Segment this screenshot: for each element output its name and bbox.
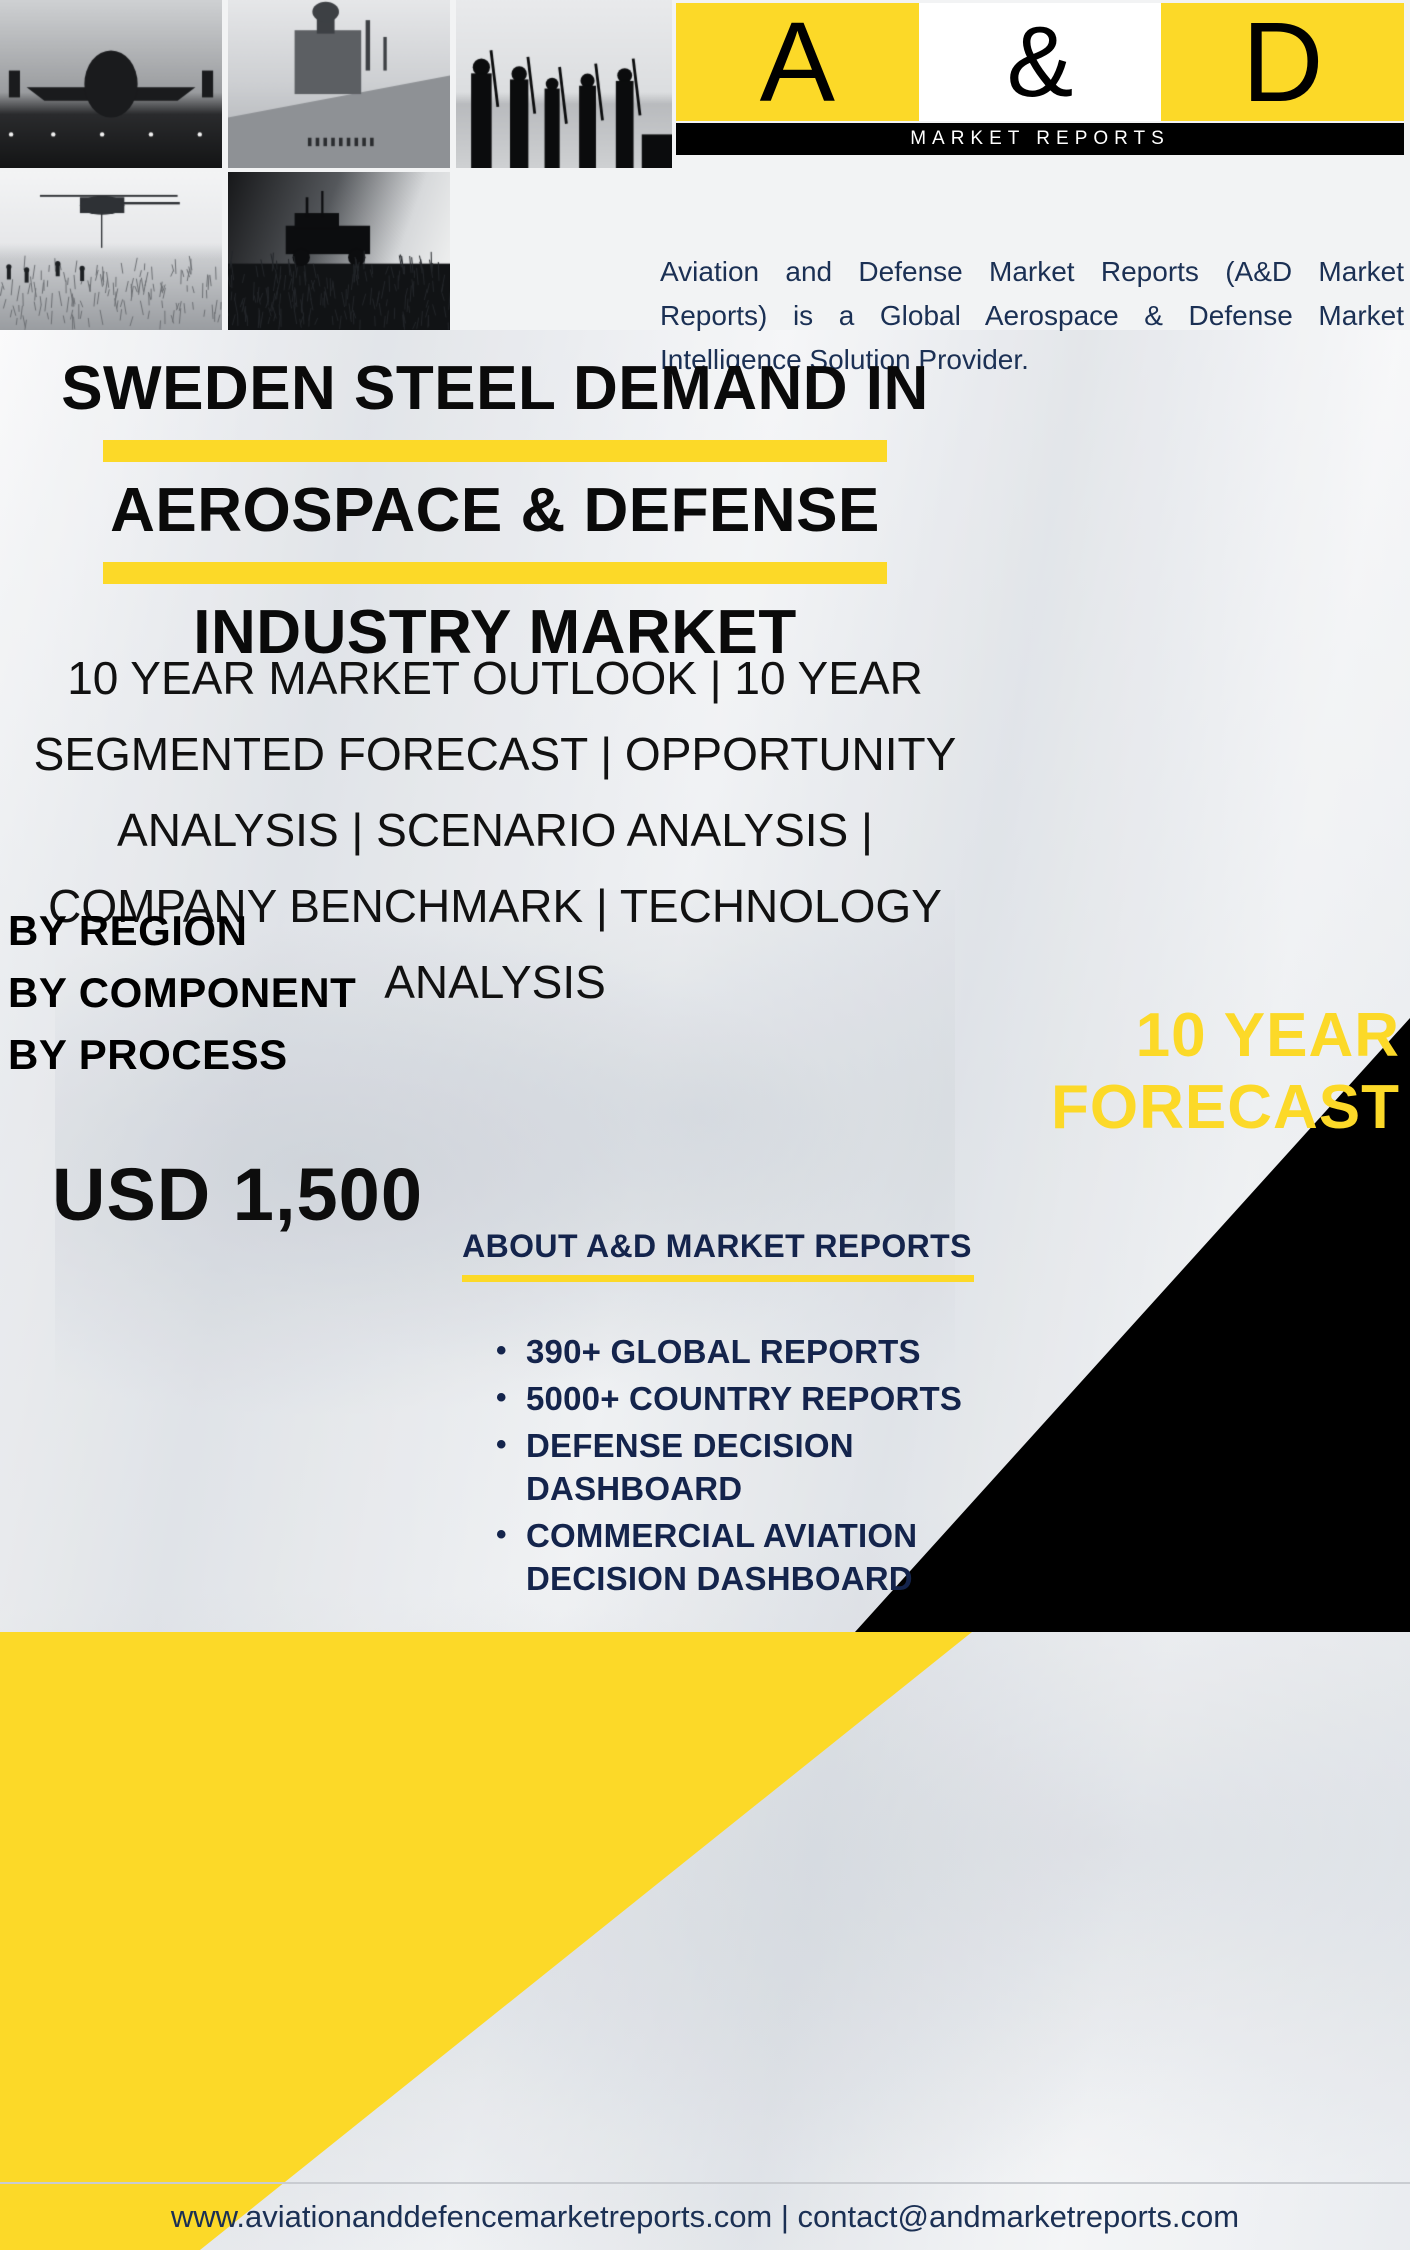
about-bullet-list: 390+ GLOBAL REPORTS 5000+ COUNTRY REPORT… xyxy=(494,1330,982,1600)
fighter-jet-on-carrier-deck-photo xyxy=(0,0,222,168)
aircraft-carrier-photo xyxy=(228,0,450,168)
armored-vehicle-field-photo xyxy=(228,172,450,330)
report-title: SWEDEN STEEL DEMAND IN AEROSPACE & DEFEN… xyxy=(0,352,990,670)
about-panel: ABOUT A&D MARKET REPORTS 390+ GLOBAL REP… xyxy=(452,1228,982,1604)
footer-bar: www.aviationanddefencemarketreports.com … xyxy=(0,2184,1410,2250)
about-list-item: 390+ GLOBAL REPORTS xyxy=(494,1330,982,1373)
logo-letters: A & D xyxy=(676,3,1404,121)
logo-banner-text: MARKET REPORTS xyxy=(676,123,1404,155)
forecast-badge-line-1: 10 YEAR xyxy=(620,1000,1400,1072)
forecast-badge: 10 YEAR FORECAST xyxy=(620,1000,1400,1144)
logo-ampersand: & xyxy=(919,3,1162,121)
logo-letter-a: A xyxy=(676,3,919,121)
segmentation-list: BY REGION BY COMPONENT BY PROCESS xyxy=(8,900,628,1086)
price-value: USD 1,500 xyxy=(52,1153,572,1237)
title-divider-1 xyxy=(103,440,887,462)
helicopter-rappel-photo xyxy=(0,172,222,330)
brand-logo: A & D MARKET REPORTS xyxy=(676,3,1404,155)
forecast-badge-line-2: FORECAST xyxy=(620,1072,1400,1144)
title-divider-2 xyxy=(103,562,887,584)
about-list-item: COMMERCIAL AVIATION DECISION DASHBOARD xyxy=(494,1514,982,1600)
about-list-item: DEFENSE DECISION DASHBOARD xyxy=(494,1424,982,1510)
about-list-item: 5000+ COUNTRY REPORTS xyxy=(494,1377,982,1420)
report-title-line-1: SWEDEN STEEL DEMAND IN xyxy=(0,352,990,426)
about-title-underline xyxy=(462,1275,974,1282)
segment-item-process: BY PROCESS xyxy=(8,1024,628,1086)
segment-item-component: BY COMPONENT xyxy=(8,962,628,1024)
logo-letter-d: D xyxy=(1161,3,1404,121)
soldiers-silhouette-photo xyxy=(456,0,672,168)
segment-item-region: BY REGION xyxy=(8,900,628,962)
footer-contact-text[interactable]: www.aviationanddefencemarketreports.com … xyxy=(171,2199,1239,2235)
about-panel-title: ABOUT A&D MARKET REPORTS xyxy=(452,1228,982,1265)
report-title-line-2: AEROSPACE & DEFENSE xyxy=(0,474,990,548)
